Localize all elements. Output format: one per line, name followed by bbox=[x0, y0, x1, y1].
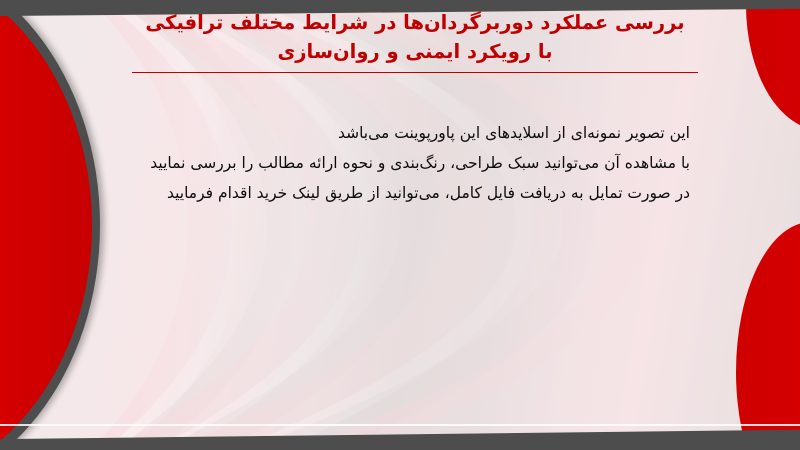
bottom-highlight-line bbox=[0, 424, 800, 426]
title-underline-rule bbox=[132, 72, 698, 73]
slide-body-block: این تصویر نمونه‌ای از اسلایدهای این پاور… bbox=[140, 118, 690, 208]
slide-title-line-2: با رویکرد ایمنی و روان‌سازی bbox=[120, 37, 710, 66]
slide-title-line-1: بررسی عملکرد دوربرگردان‌ها در شرایط مختل… bbox=[120, 8, 710, 37]
slide-title-block: بررسی عملکرد دوربرگردان‌ها در شرایط مختل… bbox=[120, 8, 710, 73]
slide-canvas: بررسی عملکرد دوربرگردان‌ها در شرایط مختل… bbox=[0, 0, 800, 450]
body-line-3: در صورت تمایل به دریافت فایل کامل، می‌تو… bbox=[140, 178, 690, 208]
body-line-1: این تصویر نمونه‌ای از اسلایدهای این پاور… bbox=[140, 118, 690, 148]
body-line-2: با مشاهده آن می‌توانید سبک طراحی، رنگ‌بن… bbox=[140, 148, 690, 178]
